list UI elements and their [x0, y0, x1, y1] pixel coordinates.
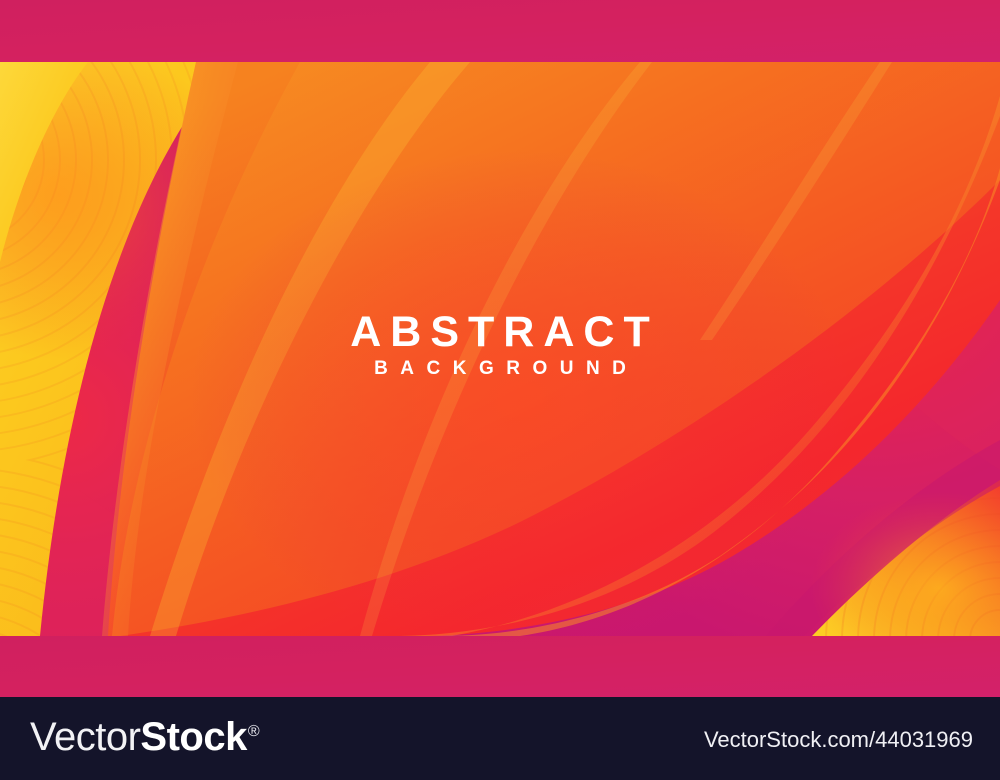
watermark-footer: VectorStock® VectorStock.com/44031969 — [0, 697, 1000, 780]
logo-word-stock: Stock — [140, 715, 246, 759]
vectorstock-logo[interactable]: VectorStock® — [30, 717, 259, 757]
frame-band-top — [0, 0, 1000, 62]
abstract-background-illustration — [0, 0, 1000, 697]
glow-centre — [190, 150, 850, 650]
artwork-preview: ABSTRACT BACKGROUND — [0, 0, 1000, 697]
artwork-inner-region — [0, 30, 1000, 684]
registered-trademark-icon: ® — [248, 723, 260, 740]
logo-word-vector: Vector — [30, 715, 140, 759]
asset-url-label: VectorStock.com/44031969 — [704, 727, 973, 753]
frame-band-bottom — [0, 636, 1000, 697]
screenshot-root: ABSTRACT BACKGROUND VectorStock® VectorS… — [0, 0, 1000, 780]
